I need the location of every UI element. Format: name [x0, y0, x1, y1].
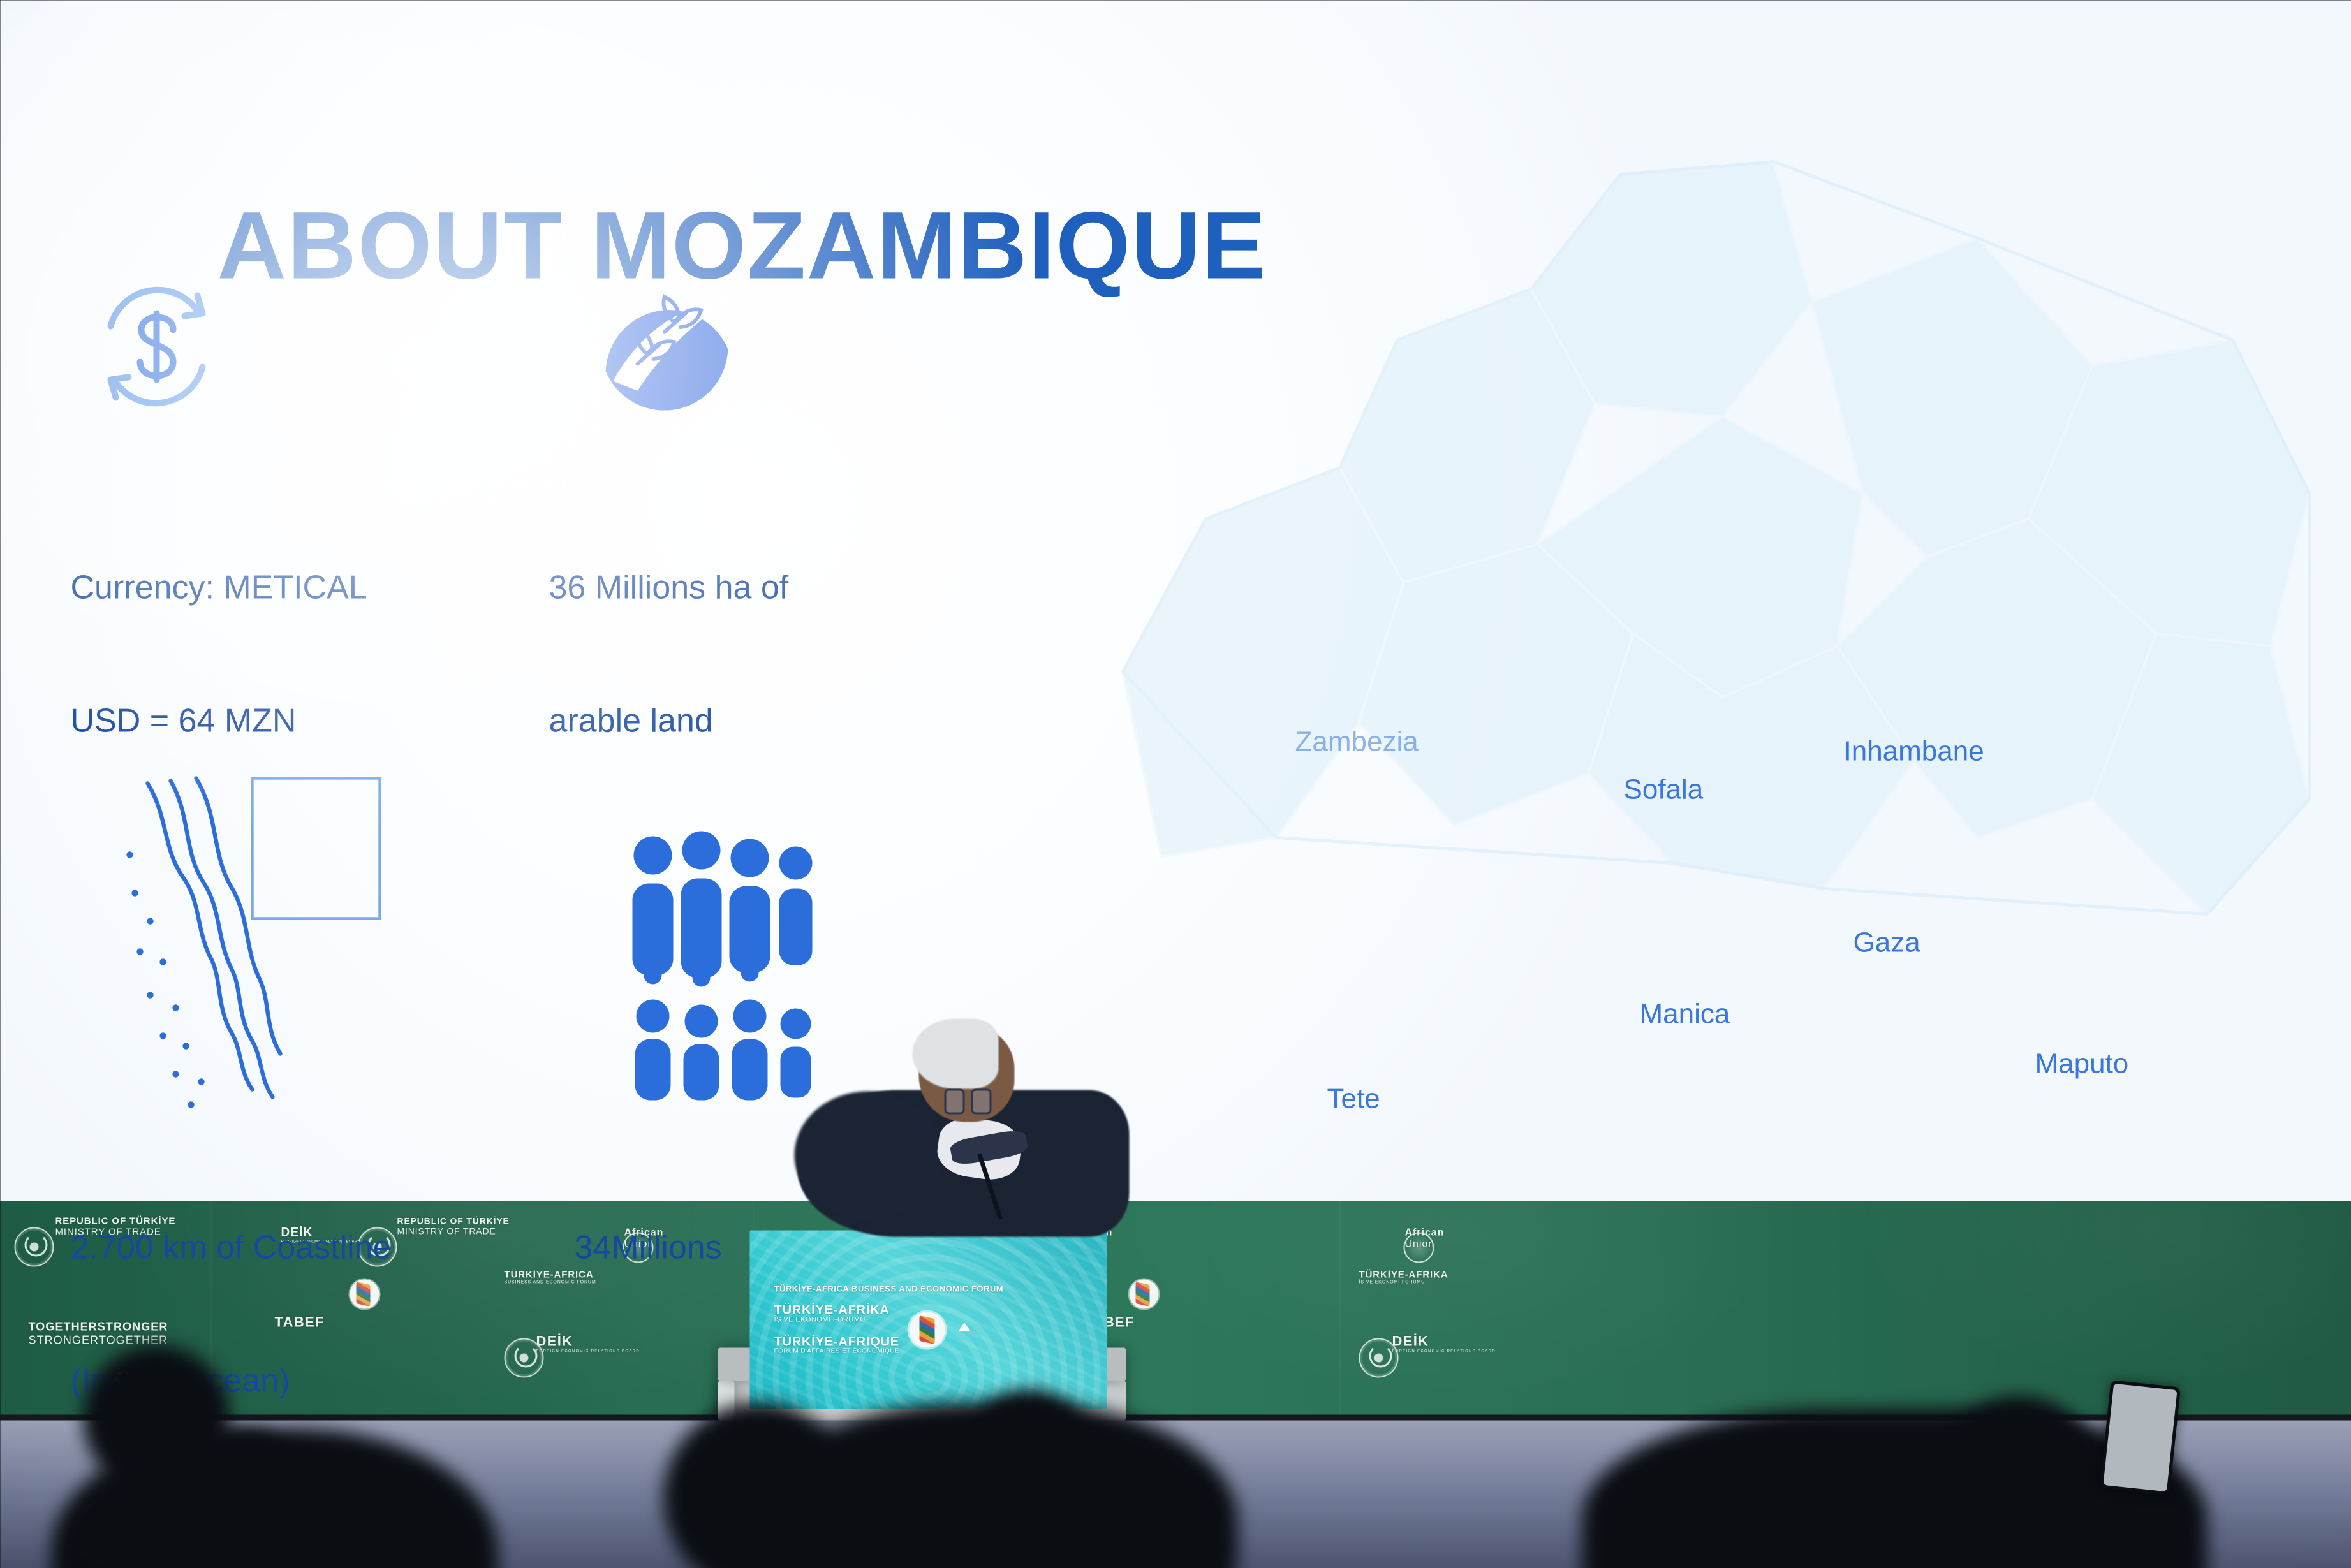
- deik-seal-icon: [1359, 1338, 1398, 1377]
- map-label-tete: Tete: [1327, 1083, 1380, 1115]
- backdrop-logo-deik: DEİK FOREIGN ECONOMIC RELATIONS BOARD: [1392, 1333, 1495, 1353]
- stat-population-line1: 34Millions: [574, 1226, 721, 1270]
- ministry-seal-icon: [14, 1227, 54, 1266]
- phone-screen[interactable]: [2103, 1383, 2177, 1491]
- agriculture-leaf-icon: [593, 263, 740, 410]
- tabef-logo-icon: [1129, 1279, 1158, 1308]
- presentation-slide: ABOUT MOZAMBIQUE Curren: [0, 0, 2351, 1201]
- mozambique-map: Maputo Gaza Inhambane Manica Sofala Tete…: [1084, 21, 2328, 1182]
- photograph-frame: REPUBLIC OF TÜRKİYE MINISTRY OF TRADE TO…: [0, 0, 2351, 1568]
- backdrop-logo-line1: REPUBLIC OF TÜRKİYE: [397, 1215, 509, 1226]
- currency-exchange-icon: [80, 270, 233, 423]
- smartphone[interactable]: [2099, 1380, 2180, 1495]
- backdrop-logo-line2: FOREIGN ECONOMIC RELATIONS BOARD: [1392, 1349, 1495, 1353]
- map-label-manica: Manica: [1639, 998, 1730, 1030]
- stat-currency-line2: USD = 64 MZN: [70, 699, 367, 744]
- map-label-gaza: Gaza: [1853, 927, 1920, 958]
- stat-arable-line1: 36 Millions ha of: [549, 566, 788, 610]
- audience-hand-silhouette: [969, 1389, 1087, 1498]
- tabef-badge-icon: [909, 1312, 945, 1347]
- map-label-inhambane: Inhambane: [1843, 735, 1984, 767]
- backdrop-logo-line2: MINISTRY OF TRADE: [397, 1226, 509, 1236]
- audience-hand-silhouette: [198, 1430, 293, 1513]
- speaker-hair: [912, 1018, 998, 1088]
- backdrop-logo-forum-tr: TÜRKİYE-AFRIKA İŞ VE EKONOMİ FORUMU: [1359, 1269, 1448, 1284]
- stat-arable-line2: arable land: [549, 699, 788, 744]
- african-union-icon: [1403, 1232, 1434, 1263]
- stat-currency-line1: Currency: METICAL: [70, 566, 367, 610]
- podium-screen: TÜRKİYE-AFRICA BUSINESS AND ECONOMIC FOR…: [749, 1230, 1107, 1409]
- stat-arable-land: 36 Millions ha of arable land: [549, 477, 788, 832]
- coastline-map-icon: [77, 805, 421, 1080]
- stat-coastline-line1: 2.700 km of Coastline: [70, 1226, 391, 1270]
- speaker-glasses: [944, 1088, 964, 1114]
- backdrop-logo-line1: DEİK: [1392, 1333, 1495, 1349]
- backdrop-logo-line2: İŞ VE EKONOMİ FORUMU: [1359, 1280, 1448, 1284]
- map-label-sofala: Sofala: [1623, 773, 1703, 805]
- star-icon: [959, 1323, 970, 1331]
- podium-line-1: TÜRKİYE-AFRICA BUSINESS AND ECONOMIC FOR…: [774, 1284, 1003, 1293]
- backdrop-logo-au: African Union: [1404, 1227, 1444, 1250]
- map-label-maputo: Maputo: [2035, 1048, 2128, 1080]
- audience-hand-silhouette: [1945, 1396, 2092, 1530]
- scene-rotated: REPUBLIC OF TÜRKİYE MINISTRY OF TRADE TO…: [0, 0, 2351, 1568]
- stat-population: 34Millions: [574, 1137, 721, 1359]
- podium-line-5: FORUM D'AFFAIRES ET ÉCONOMIQUE: [774, 1347, 899, 1354]
- backdrop-logo-line1: TÜRKİYE-AFRIKA: [1359, 1269, 1448, 1280]
- people-group-icon: [574, 872, 861, 1064]
- backdrop-logo-line2: Union: [1404, 1238, 1444, 1250]
- speaker-glasses: [971, 1088, 991, 1114]
- backdrop-logo-line1: African: [1404, 1227, 1444, 1238]
- map-label-zambezia: Zambezia: [1295, 726, 1418, 758]
- speaker-shoulder: [794, 1091, 941, 1219]
- deik-seal-icon: [504, 1338, 543, 1377]
- backdrop-logo-ministry: REPUBLIC OF TÜRKİYE MINISTRY OF TRADE: [397, 1215, 509, 1236]
- podium-line-3: İŞ VE EKONOMİ FORUMU: [774, 1315, 865, 1323]
